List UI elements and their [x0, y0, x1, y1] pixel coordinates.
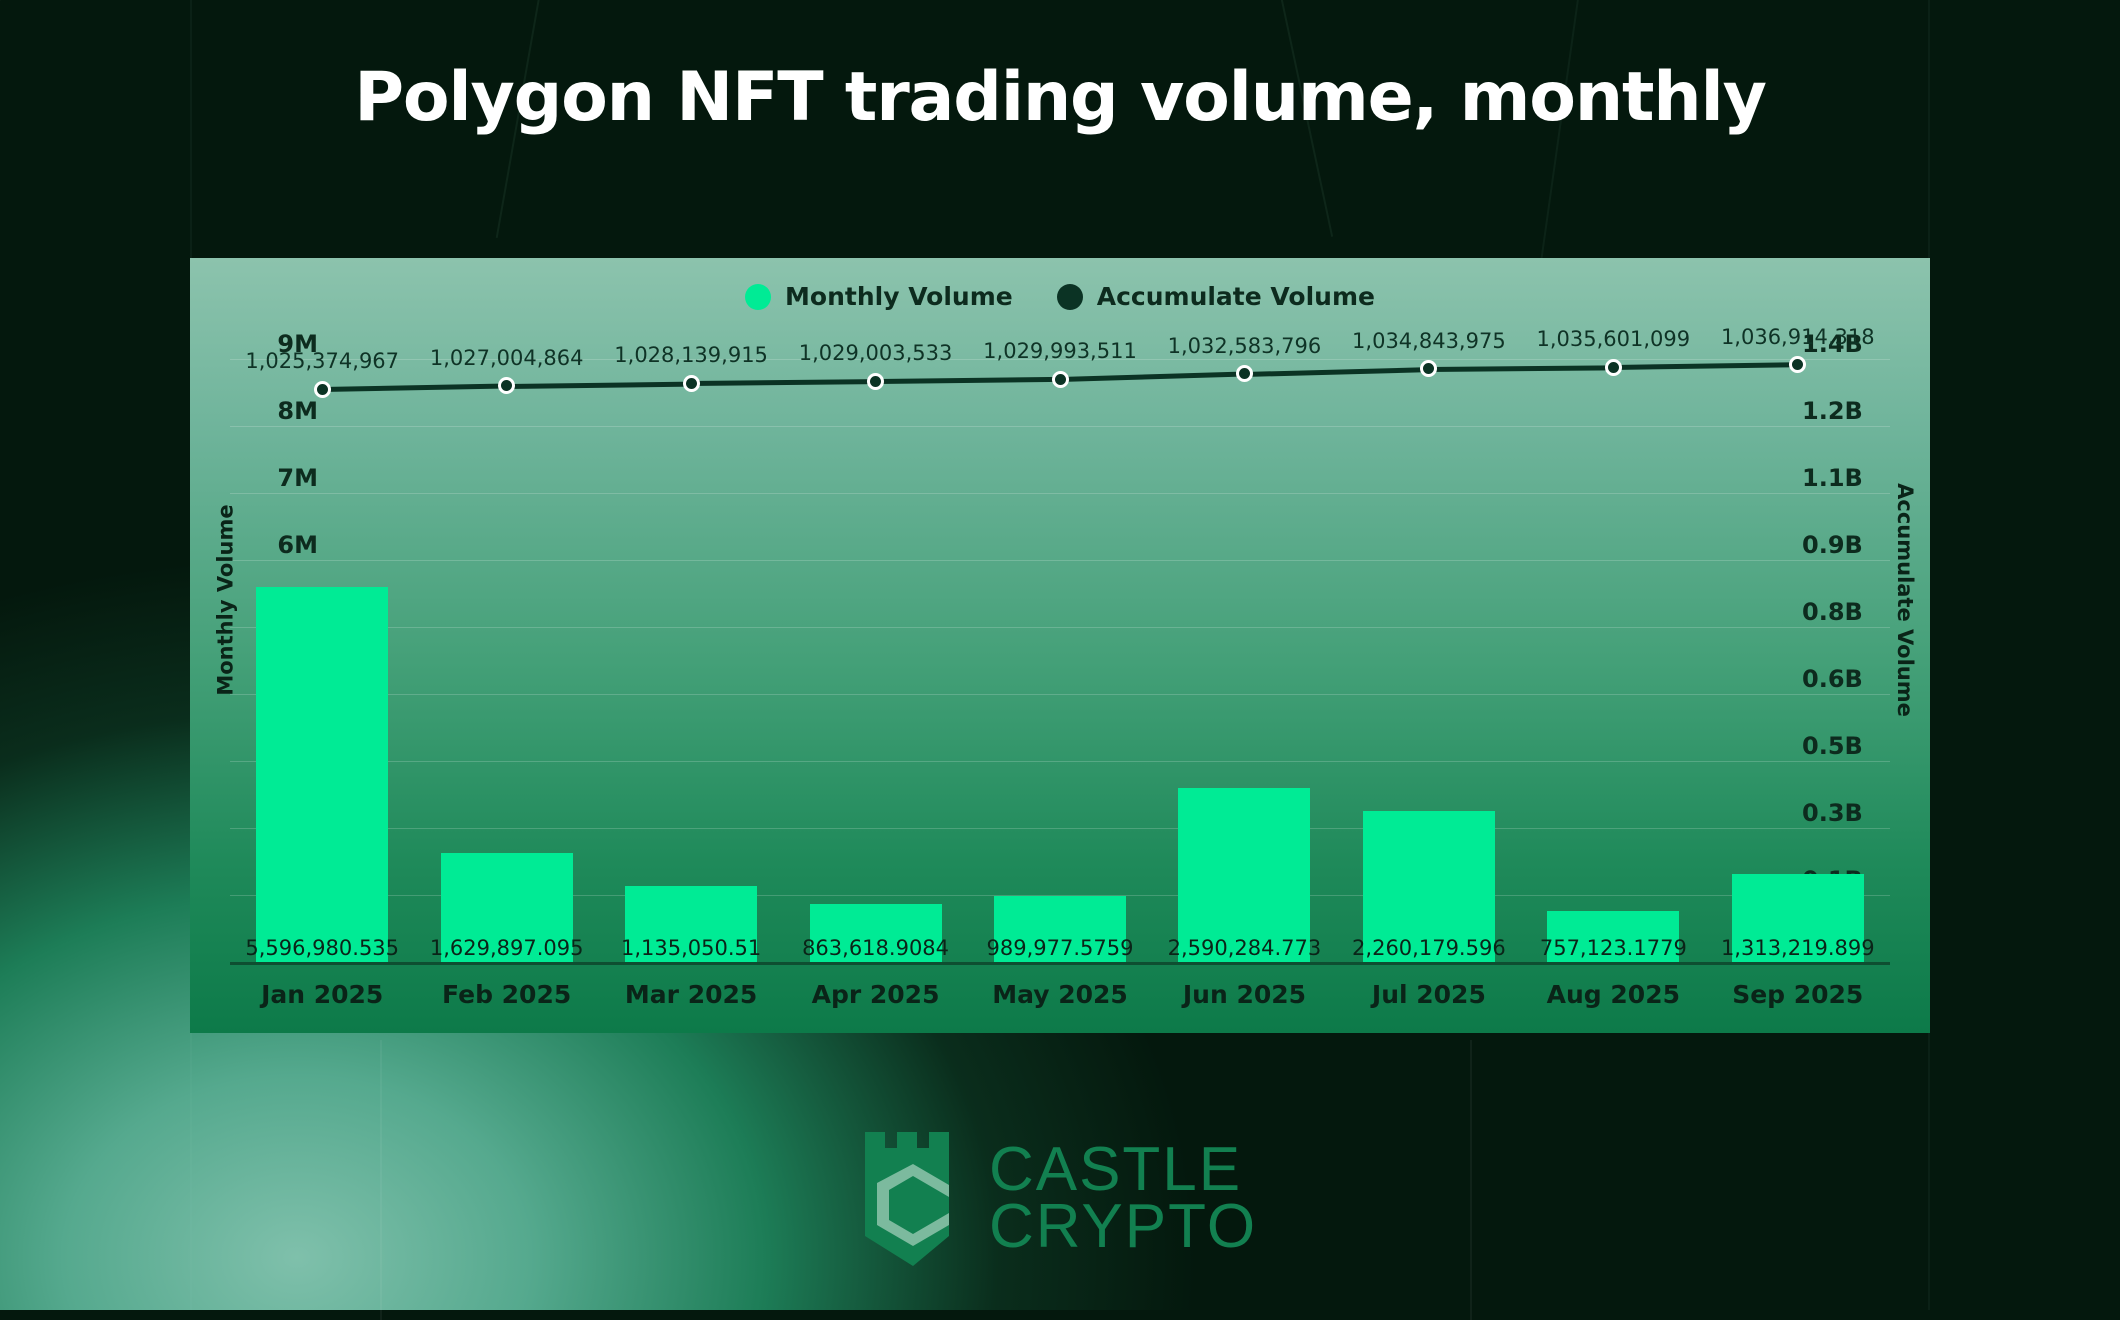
y-axis-tick-left: 6M [190, 531, 318, 559]
chart-panel: Monthly Volume Accumulate Volume 001M0.1… [190, 258, 1930, 1033]
grid-line [230, 627, 1890, 628]
grid-line [230, 560, 1890, 561]
line-segment-accumulate-volume [1613, 363, 1798, 371]
grid-line [230, 828, 1890, 829]
line-point-accumulate-volume[interactable] [867, 373, 884, 390]
axis-baseline [230, 962, 1890, 965]
castle-shield-logo-icon [863, 1128, 963, 1268]
page-title: Polygon NFT trading volume, monthly [0, 58, 2120, 137]
grid-line [230, 426, 1890, 427]
line-point-accumulate-volume[interactable] [1605, 359, 1622, 376]
line-point-accumulate-volume[interactable] [1052, 371, 1069, 388]
line-point-value-label: 1,036,914,318 [1688, 325, 1908, 349]
line-segment-accumulate-volume [1244, 367, 1429, 377]
infographic-canvas: Polygon NFT trading volume, monthly Mont… [0, 0, 2120, 1310]
grid-line [230, 694, 1890, 695]
brand-line-1: CASTLE [989, 1141, 1257, 1198]
x-axis-tick-label: Sep 2025 [1688, 980, 1908, 1009]
line-segment-accumulate-volume [1060, 372, 1245, 383]
line-segment-accumulate-volume [691, 379, 875, 386]
line-point-accumulate-volume[interactable] [1420, 360, 1437, 377]
plot-area: 001M0.1B2M0.3B3M0.5B4M0.6B5M0.8B6M0.9B7M… [190, 258, 1930, 1033]
brand-logo: CASTLE CRYPTO [0, 1128, 2120, 1268]
line-segment-accumulate-volume [322, 384, 507, 392]
line-point-accumulate-volume[interactable] [1789, 356, 1806, 373]
line-segment-accumulate-volume [876, 377, 1060, 384]
y-axis-title-right: Accumulate Volume [1893, 483, 1917, 717]
line-segment-accumulate-volume [507, 381, 692, 388]
bar-value-label: 1,313,219.899 [1688, 936, 1908, 960]
line-point-accumulate-volume[interactable] [1236, 365, 1253, 382]
grid-line [230, 493, 1890, 494]
y-axis-tick-right: 0.3B [1802, 799, 1930, 827]
brand-line-2: CRYPTO [989, 1198, 1257, 1255]
line-point-accumulate-volume[interactable] [314, 381, 331, 398]
y-axis-tick-left: 7M [190, 464, 318, 492]
line-point-accumulate-volume[interactable] [683, 375, 700, 392]
grid-line [230, 761, 1890, 762]
y-axis-tick-left: 8M [190, 397, 318, 425]
y-axis-tick-right: 1.2B [1802, 397, 1930, 425]
line-point-accumulate-volume[interactable] [498, 377, 515, 394]
y-axis-tick-right: 0.5B [1802, 732, 1930, 760]
line-segment-accumulate-volume [1429, 365, 1613, 372]
brand-wordmark: CASTLE CRYPTO [989, 1141, 1257, 1255]
y-axis-title-left: Monthly Volume [214, 504, 238, 695]
bar-monthly-volume[interactable] [256, 587, 388, 962]
